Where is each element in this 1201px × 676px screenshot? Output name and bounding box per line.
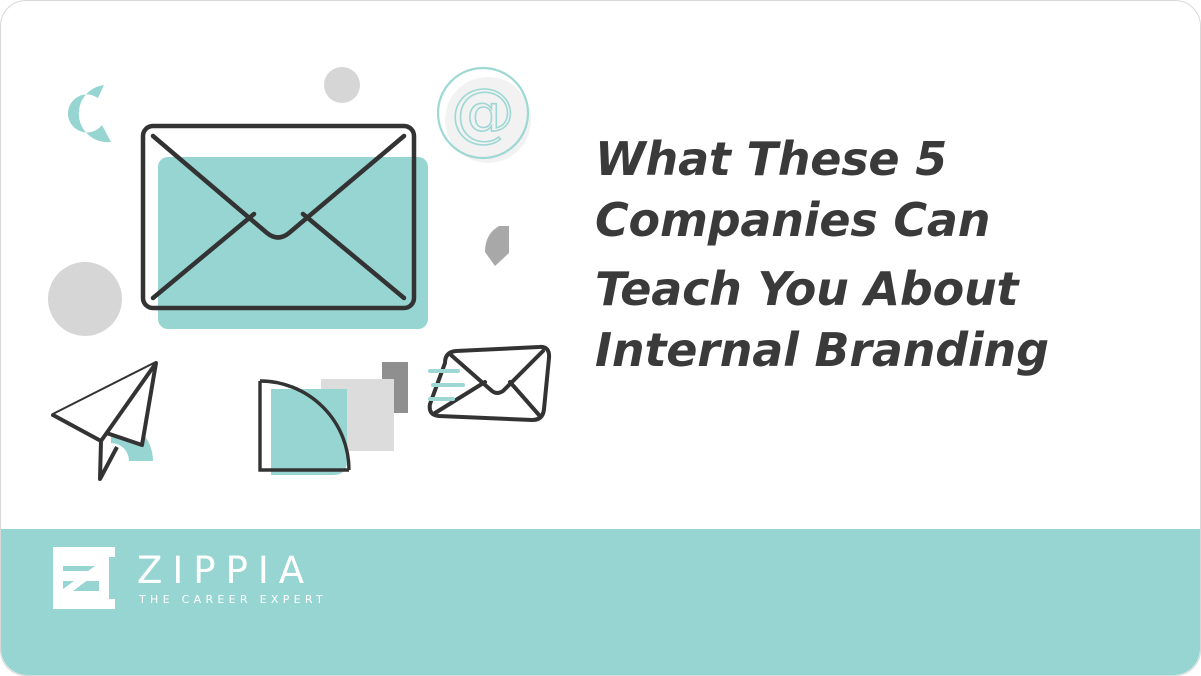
at-symbol-glyph: @ xyxy=(451,76,515,150)
zippia-logo-text: ZIPPIA THE CAREER EXPERT xyxy=(137,551,327,608)
at-symbol-badge: @ xyxy=(438,68,531,163)
gray-curved-arrow xyxy=(485,226,509,266)
zippia-logo[interactable]: ZIPPIA THE CAREER EXPERT xyxy=(53,547,327,609)
headline-line-3: Teach You About xyxy=(595,259,1115,320)
paper-plane xyxy=(53,363,156,479)
gray-circle xyxy=(48,262,122,336)
headline-line-1: What These 5 xyxy=(595,129,1115,190)
headline: What These 5 Companies Can Teach You Abo… xyxy=(595,129,1115,381)
email-marketing-illustration: @ xyxy=(1,1,601,531)
footer-banner: ZIPPIA THE CAREER EXPERT xyxy=(1,529,1200,675)
zippia-z-logo-icon xyxy=(53,547,115,609)
teal-rounded-block xyxy=(271,389,347,475)
promo-card: @ xyxy=(0,0,1201,676)
small-gray-circle xyxy=(324,67,360,103)
zippia-tagline: THE CAREER EXPERT xyxy=(139,592,327,608)
teal-crescent-shape xyxy=(68,85,111,142)
headline-line-2: Companies Can xyxy=(595,190,1115,251)
headline-line-4: Internal Branding xyxy=(595,320,1115,381)
zippia-wordmark: ZIPPIA xyxy=(137,551,327,591)
large-envelope xyxy=(143,126,414,308)
